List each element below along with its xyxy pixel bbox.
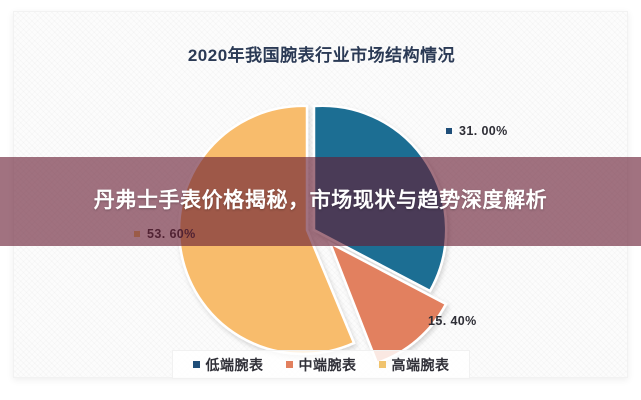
legend-item-mid-end[interactable]: 中端腕表	[286, 355, 357, 375]
chart-legend: 低端腕表 中端腕表 高端腕表	[172, 350, 470, 379]
headline-text: 丹弗士手表价格揭秘，市场现状与趋势深度解析	[31, 187, 611, 216]
data-label-value-mid-end: 15. 40%	[428, 314, 477, 328]
data-label-mid-end: 15. 40%	[415, 314, 477, 328]
legend-label-high-end: 高端腕表	[392, 355, 450, 375]
legend-label-mid-end: 中端腕表	[299, 355, 357, 375]
data-label-marker-mid-end	[415, 318, 421, 324]
legend-swatch-high-end	[379, 361, 386, 368]
legend-swatch-mid-end	[286, 361, 293, 368]
data-label-marker-low-end	[446, 128, 452, 134]
screenshot-root: 2020年我国腕表行业市场结构情况 31. 00%	[0, 0, 641, 400]
legend-swatch-low-end	[193, 361, 200, 368]
legend-item-low-end[interactable]: 低端腕表	[193, 355, 264, 375]
data-label-value-low-end: 31. 00%	[459, 124, 508, 138]
headline-overlay-banner: 丹弗士手表价格揭秘，市场现状与趋势深度解析	[0, 157, 641, 246]
data-label-low-end: 31. 00%	[446, 124, 508, 138]
chart-title: 2020年我国腕表行业市场结构情况	[14, 41, 628, 66]
legend-label-low-end: 低端腕表	[206, 355, 264, 375]
legend-item-high-end[interactable]: 高端腕表	[379, 355, 450, 375]
